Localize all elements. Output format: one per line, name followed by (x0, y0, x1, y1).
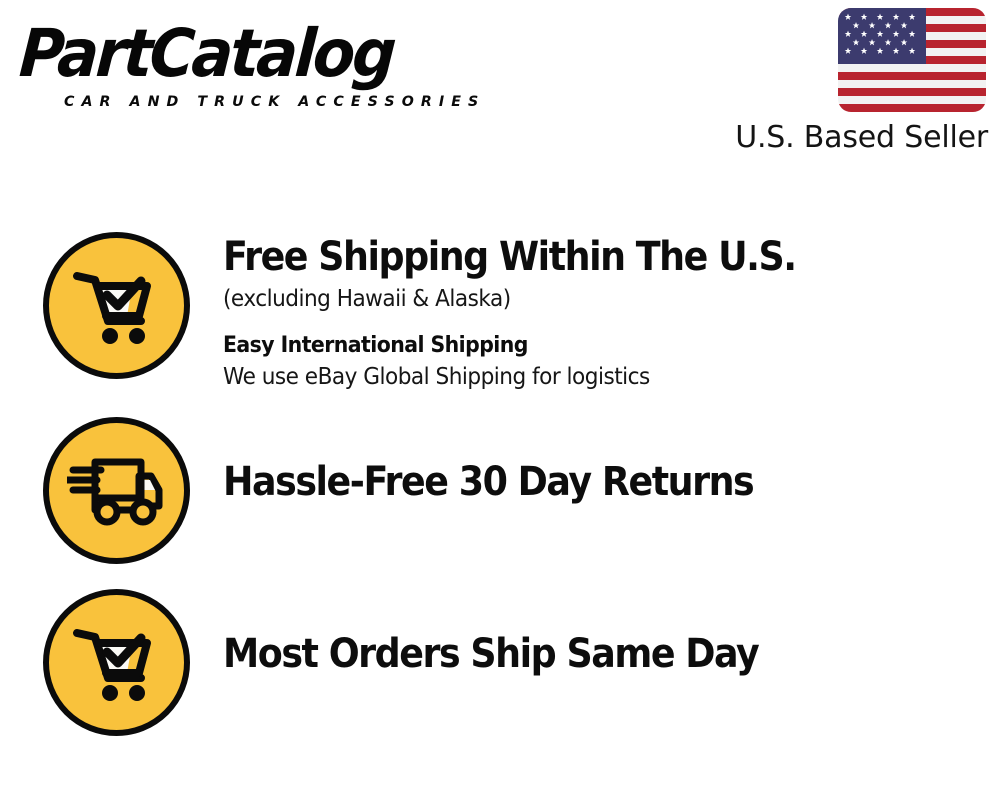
feature-title: Hassle-Free 30 Day Returns (223, 459, 930, 505)
feature-sub-heading: Easy International Shipping (223, 331, 946, 361)
us-based-seller-block: U.S. Based Seller (720, 8, 990, 155)
feature-text-block: Most Orders Ship Same Day (223, 589, 1000, 677)
feature-title: Most Orders Ship Same Day (223, 631, 930, 677)
shopping-cart-check-icon (43, 232, 190, 379)
feature-text-block: Hassle-Free 30 Day Returns (223, 417, 1000, 505)
us-based-seller-label: U.S. Based Seller (720, 121, 990, 155)
brand-logo: PartCatalog CAR AND TRUCK ACCESSORIES (22, 18, 492, 118)
feature-title: Free Shipping Within The U.S. (223, 234, 930, 280)
feature-row: Free Shipping Within The U.S. (excluding… (0, 232, 1000, 392)
feature-row: Most Orders Ship Same Day (0, 589, 1000, 736)
feature-subtitle: (excluding Hawaii & Alaska) (223, 284, 953, 314)
feature-row: Hassle-Free 30 Day Returns (0, 417, 1000, 564)
delivery-truck-icon (43, 417, 190, 564)
us-flag-icon (838, 8, 986, 112)
brand-tagline: CAR AND TRUCK ACCESSORIES (64, 94, 485, 110)
shopping-cart-check-icon (43, 589, 190, 736)
feature-text-block: Free Shipping Within The U.S. (excluding… (223, 232, 1000, 392)
brand-wordmark: PartCatalog (17, 18, 459, 90)
feature-sub-detail: We use eBay Global Shipping for logistic… (223, 362, 953, 392)
banner-header: PartCatalog CAR AND TRUCK ACCESSORIES (0, 0, 1000, 175)
flag-stars-icon (838, 8, 926, 64)
